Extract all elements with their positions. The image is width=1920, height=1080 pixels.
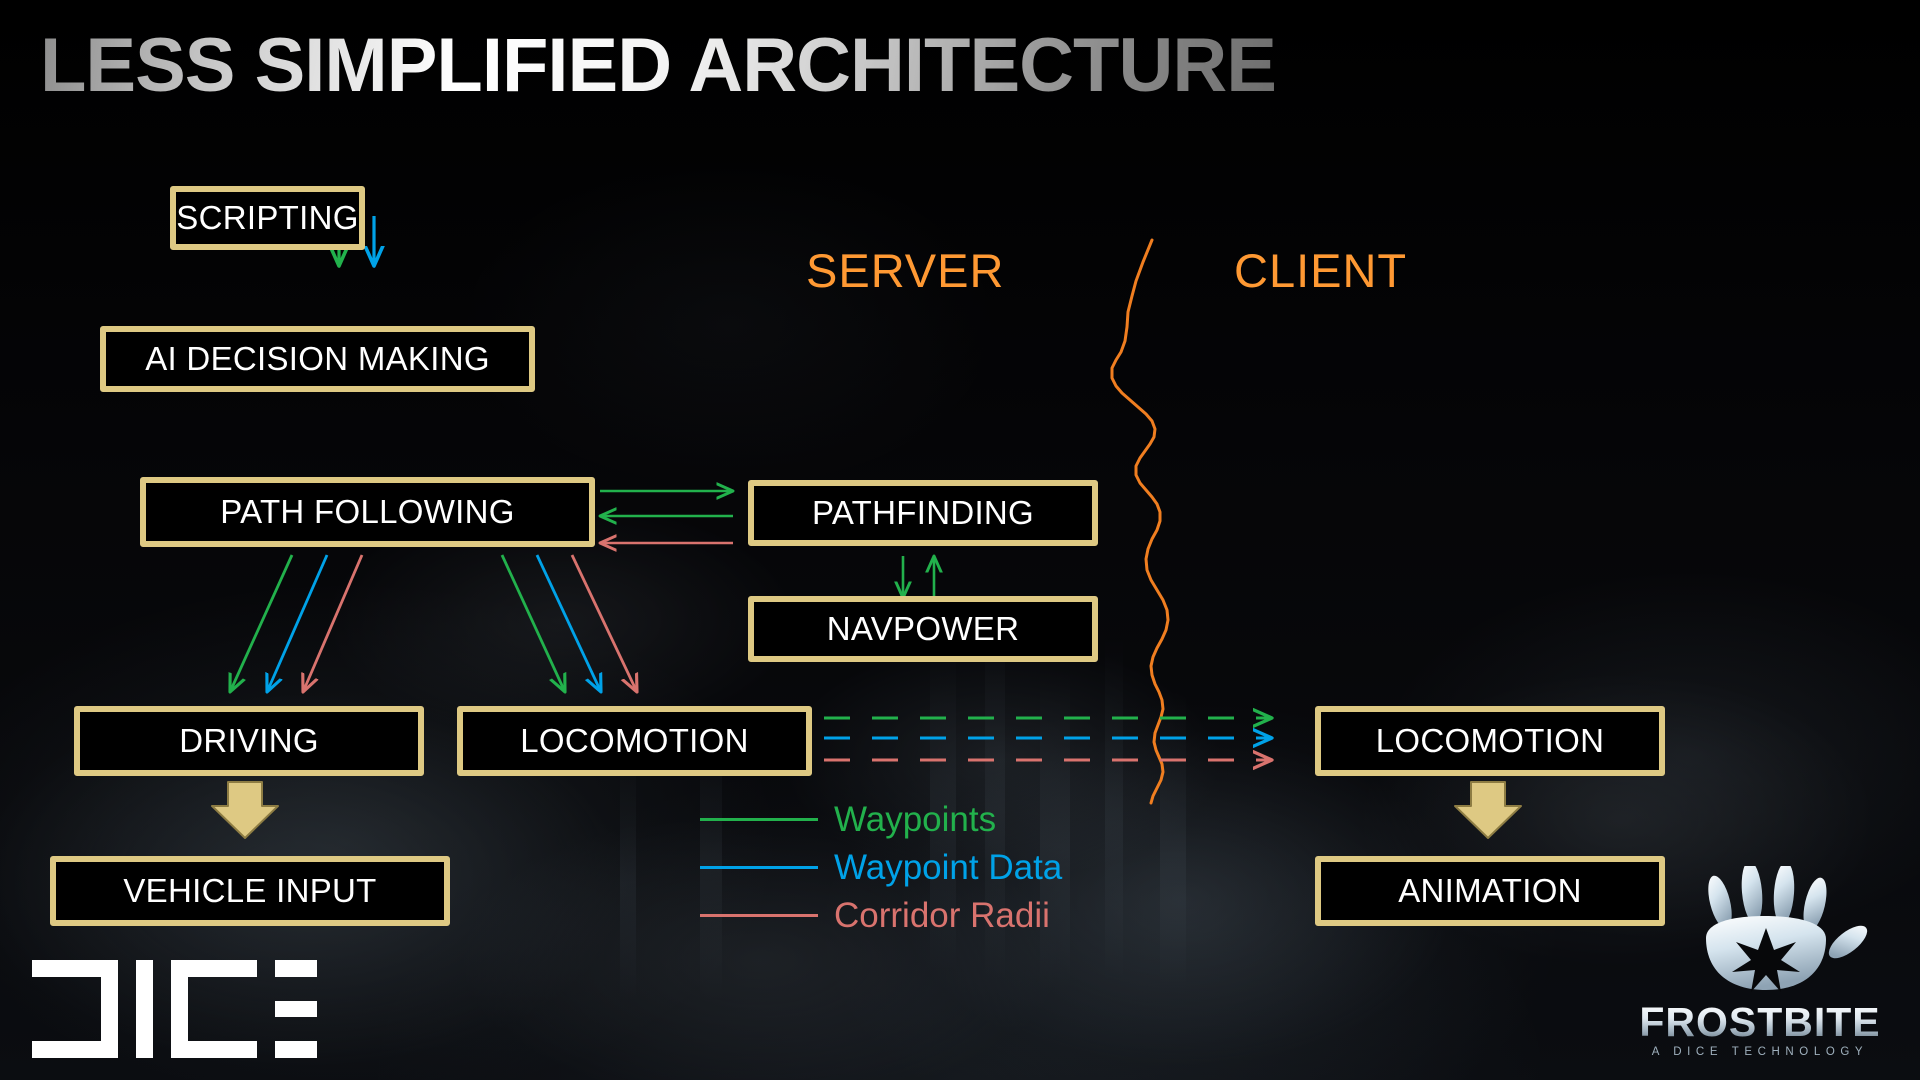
legend: Waypoints Waypoint Data Corridor Radii [700,795,1062,939]
slide-canvas: LESS SIMPLIFIED ARCHITECTURE SERVER CLIE… [0,0,1920,1080]
legend-swatch-waypoint-data [700,866,818,869]
dice-logo [32,960,317,1058]
node-locomotion-client[interactable]: LOCOMOTION [1315,706,1665,776]
node-pathfinding[interactable]: PATHFINDING [748,480,1098,546]
slide-title: LESS SIMPLIFIED ARCHITECTURE [40,28,1276,104]
frostbite-hand-icon [1620,866,1900,996]
legend-item-waypoints: Waypoints [700,795,1062,843]
legend-item-corridor-radii: Corridor Radii [700,891,1062,939]
node-path-following[interactable]: PATH FOLLOWING [140,477,595,547]
block-arrow-driving-to-vehicle-input [212,782,278,838]
node-ai-decision-making[interactable]: AI DECISION MAKING [100,326,535,392]
block-arrow-locomotion-to-animation [1455,782,1521,838]
frostbite-tagline: A DICE TECHNOLOGY [1620,1046,1900,1058]
legend-swatch-corridor-radii [700,914,818,917]
frostbite-logo: FROSTBITE A DICE TECHNOLOGY [1620,880,1900,1070]
legend-label-corridor-radii: Corridor Radii [834,898,1050,933]
frostbite-wordmark: FROSTBITE [1620,1002,1900,1043]
node-navpower[interactable]: NAVPOWER [748,596,1098,662]
node-vehicle-input[interactable]: VEHICLE INPUT [50,856,450,926]
legend-label-waypoints: Waypoints [834,802,996,837]
node-locomotion-server[interactable]: LOCOMOTION [457,706,812,776]
legend-label-waypoint-data: Waypoint Data [834,850,1062,885]
node-driving[interactable]: DRIVING [74,706,424,776]
node-scripting[interactable]: SCRIPTING [170,186,365,250]
zone-label-server: SERVER [806,243,1004,298]
legend-swatch-waypoints [700,818,818,821]
legend-item-waypoint-data: Waypoint Data [700,843,1062,891]
zone-label-client: CLIENT [1234,243,1407,298]
node-animation[interactable]: ANIMATION [1315,856,1665,926]
